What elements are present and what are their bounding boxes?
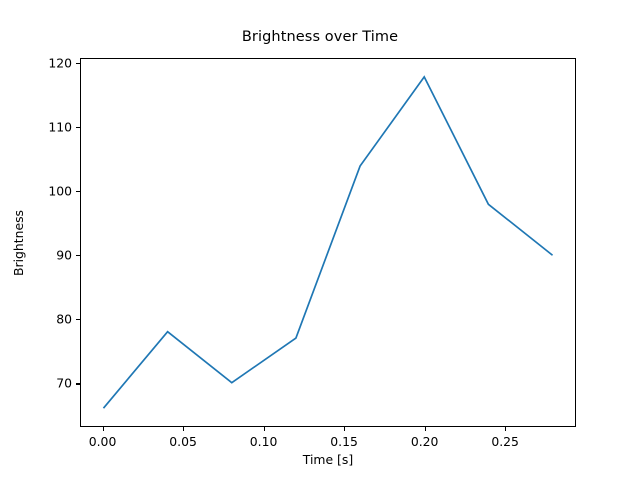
- x-tick-label: 0.15: [330, 434, 358, 449]
- chart-title: Brightness over Time: [0, 29, 640, 45]
- plot-area: [80, 58, 576, 427]
- matplotlib-figure: Brightness over Time 708090100110120 0.0…: [0, 0, 640, 480]
- x-tick-mark: [103, 427, 104, 431]
- line-series-svg: [81, 59, 575, 426]
- y-tick-label: 110: [30, 120, 72, 135]
- y-tick-mark: [76, 319, 80, 320]
- y-tick-label: 100: [30, 184, 72, 199]
- x-tick-mark: [344, 427, 345, 431]
- x-tick-mark: [183, 427, 184, 431]
- y-tick-mark: [76, 383, 80, 384]
- y-tick-label: 70: [30, 376, 72, 391]
- y-tick-label: 80: [30, 312, 72, 327]
- y-axis-label: Brightness: [11, 209, 26, 275]
- x-tick-label: 0.00: [89, 434, 117, 449]
- data-line-brightness: [103, 77, 552, 408]
- x-tick-mark: [425, 427, 426, 431]
- x-tick-label: 0.25: [491, 434, 519, 449]
- x-tick-mark: [505, 427, 506, 431]
- y-tick-mark: [76, 63, 80, 64]
- x-tick-label: 0.05: [169, 434, 197, 449]
- x-tick-label: 0.10: [250, 434, 278, 449]
- x-axis-label: Time [s]: [80, 452, 576, 467]
- y-tick-mark: [76, 191, 80, 192]
- y-tick-label: 120: [30, 56, 72, 71]
- y-tick-label: 90: [30, 248, 72, 263]
- y-tick-mark: [76, 255, 80, 256]
- y-tick-mark: [76, 127, 80, 128]
- x-tick-mark: [264, 427, 265, 431]
- x-tick-label: 0.20: [411, 434, 439, 449]
